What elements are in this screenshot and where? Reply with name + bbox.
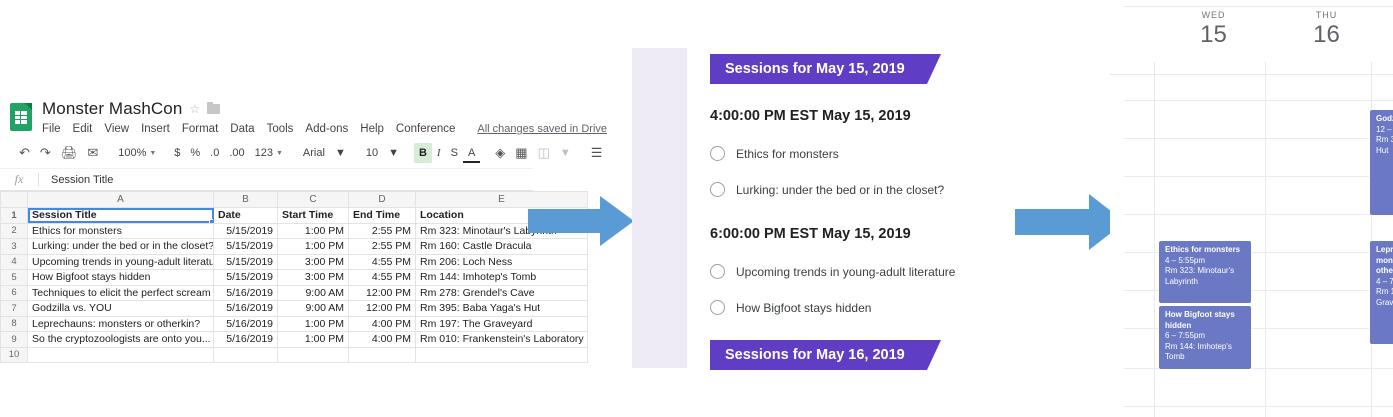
percent-format-button[interactable]: % [185,143,205,163]
row-number[interactable]: 4 [1,254,28,270]
cell-session-title[interactable]: Upcoming trends in young-adult literatur… [28,254,214,270]
google-form-panel: Sessions for May 15, 2019 4:00:00 PM EST… [632,48,956,368]
row-number[interactable]: 9 [1,332,28,348]
row-number[interactable]: 10 [1,347,28,363]
radio-icon[interactable] [710,264,725,279]
event-time: 6 – 7:55pm [1165,331,1246,342]
cell-location[interactable]: Rm 197: The Graveyard [416,316,588,332]
table-row[interactable]: 10 [1,347,588,363]
day-of-week-label: THU [1270,10,1383,20]
flow-arrow-1 [528,196,634,246]
cell-d1[interactable]: End Time [349,208,416,224]
fx-icon: fx [0,172,38,187]
calendar-hour-line [1124,100,1393,101]
cell-end-time[interactable]: 4:55 PM [349,254,416,270]
day-header-wed[interactable]: WED 15 [1157,10,1270,50]
event-location: Rm 144: Imhotep's Tomb [1165,342,1246,363]
arrow-right-icon [1015,194,1125,250]
italic-button[interactable]: I [432,143,446,163]
radio-icon[interactable] [710,146,725,161]
cell-empty[interactable] [349,347,416,363]
menu-item-file[interactable]: File [42,123,61,135]
option-label: Upcoming trends in young-adult literatur… [736,265,955,279]
cell-empty[interactable] [28,347,214,363]
cell-end-time[interactable]: 2:55 PM [349,239,416,255]
calendar-hour-line [1124,138,1393,139]
form-side-strip [632,48,687,368]
radio-option-upcoming-trends[interactable]: Upcoming trends in young-adult literatur… [710,264,956,279]
sheets-title-bar: Monster MashCon ☆ File Edit View Insert … [0,95,533,137]
option-label: Ethics for monsters [736,147,839,161]
cell-start-time[interactable]: 1:00 PM [278,239,349,255]
day-number: 15 [1157,20,1270,50]
cell-b1[interactable]: Date [214,208,278,224]
cell-session-title[interactable]: Godzilla vs. YOU [28,301,214,317]
section-banner-may-16: Sessions for May 16, 2019 [710,340,927,370]
cell-end-time[interactable]: 4:55 PM [349,270,416,286]
table-row[interactable]: 3 Lurking: under the bed or in the close… [1,239,588,255]
flow-arrow-2 [1015,194,1125,250]
table-row[interactable]: 7 Godzilla vs. YOU 5/16/2019 9:00 AM 12:… [1,301,588,317]
font-size-selector[interactable]: 10 [361,143,383,163]
strikethrough-button[interactable]: S [446,143,463,163]
calendar-event-godzilla[interactable]: Godzilla vs. YOU 12 – 3pm Rm 395: Baba Y… [1369,109,1393,216]
menu-item-data[interactable]: Data [230,123,254,135]
option-label: How Bigfoot stays hidden [736,301,871,315]
cell-date[interactable]: 5/15/2019 [214,239,278,255]
row-number[interactable]: 3 [1,239,28,255]
row-number[interactable]: 1 [1,208,28,224]
row-number[interactable]: 2 [1,223,28,239]
cell-empty[interactable] [278,347,349,363]
google-calendar-panel: WED 15 THU 16 Godzilla vs. YOU 12 – 3pm … [1110,0,1393,417]
cell-empty[interactable] [416,347,588,363]
document-title[interactable]: Monster MashCon [42,99,182,119]
cell-location[interactable]: Rm 278: Grendel's Cave [416,285,588,301]
form-group-4pm: 4:00:00 PM EST May 15, 2019 Ethics for m… [687,108,956,197]
cell-session-title[interactable]: Techniques to elicit the perfect scream [28,285,214,301]
menu-item-add-ons[interactable]: Add-ons [305,123,348,135]
paint-format-icon[interactable]: ✉ [82,143,103,163]
cell-session-title[interactable]: So the cryptozoologists are onto you... [28,332,214,348]
form-card: Sessions for May 15, 2019 4:00:00 PM EST… [687,48,956,368]
cell-end-time[interactable]: 4:00 PM [349,316,416,332]
folder-icon[interactable] [207,104,220,114]
cell-session-title[interactable]: How Bigfoot stays hidden [28,270,214,286]
google-sheets-panel: Monster MashCon ☆ File Edit View Insert … [0,95,533,320]
column-header-b[interactable]: B [214,192,278,208]
section-banner-may-15: Sessions for May 15, 2019 [710,54,927,84]
select-all-corner[interactable] [1,192,28,208]
table-row[interactable]: 8 Leprechauns: monsters or otherkin? 5/1… [1,316,588,332]
zoom-selector[interactable]: 100%▼ [113,143,159,163]
spreadsheet-grid[interactable]: A B C D E 1 Session Title Date Start Tim… [0,191,588,363]
calendar-day-headers: WED 15 THU 16 [1110,10,1393,50]
currency-format-button[interactable]: $ [169,143,185,163]
print-icon[interactable]: 🖨 [56,143,83,163]
calendar-event-leprechauns[interactable]: Leprechauns: monsters or otherkin? 4 – 7… [1369,240,1393,345]
calendar-column-divider [1265,62,1266,417]
increase-decimal-button[interactable]: .00 [224,143,249,163]
cell-location[interactable]: Rm 206: Loch Ness [416,254,588,270]
cell-start-time[interactable]: 3:00 PM [278,254,349,270]
group-heading: 4:00:00 PM EST May 15, 2019 [710,108,956,124]
menu-item-format[interactable]: Format [182,123,218,135]
column-header-a[interactable]: A [28,192,214,208]
text-color-button[interactable]: A [463,147,480,163]
radio-option-bigfoot[interactable]: How Bigfoot stays hidden [710,300,956,315]
menu-item-conference[interactable]: Conference [396,123,455,135]
document-title-row: Monster MashCon ☆ [42,99,607,119]
workflow-diagram: Monster MashCon ☆ File Edit View Insert … [0,0,1393,417]
day-of-week-label: WED [1157,10,1270,20]
cell-date[interactable]: 5/15/2019 [214,254,278,270]
cell-empty[interactable] [214,347,278,363]
font-chevron-down-icon[interactable]: ▼ [330,143,351,163]
form-group-6pm: 6:00:00 PM EST May 15, 2019 Upcoming tre… [687,226,956,315]
save-status[interactable]: All changes saved in Drive [477,123,607,135]
formula-bar: fx Session Title [0,168,533,191]
menu-item-edit[interactable]: Edit [73,123,93,135]
fill-color-icon[interactable]: ◈ [490,143,510,163]
cell-start-time[interactable]: 9:00 AM [278,301,349,317]
cell-start-time[interactable]: 1:00 PM [278,316,349,332]
radio-icon[interactable] [710,300,725,315]
section-banner-may-16-wrap: Sessions for May 16, 2019 [687,340,956,370]
calendar-hour-line [1124,406,1393,407]
cell-location[interactable]: Rm 010: Frankenstein's Laboratory [416,332,588,348]
event-title: How Bigfoot stays hidden [1165,310,1246,331]
group-heading: 6:00:00 PM EST May 15, 2019 [710,226,956,242]
column-header-row: A B C D E [1,192,588,208]
cell-end-time[interactable]: 2:55 PM [349,223,416,239]
cell-date[interactable]: 5/15/2019 [214,270,278,286]
event-location: Rm 323: Minotaur's Labyrinth [1165,266,1246,287]
event-location: Rm 395: Baba Yaga's Hut [1376,135,1393,156]
cell-start-time[interactable]: 1:00 PM [278,332,349,348]
table-row[interactable]: 5 How Bigfoot stays hidden 5/15/2019 3:0… [1,270,588,286]
cell-session-title[interactable]: Ethics for monsters [28,223,214,239]
calendar-top-divider [1124,6,1393,7]
arrow-right-icon [528,196,634,246]
font-selector[interactable]: Arial [298,143,330,163]
formula-bar-input[interactable]: Session Title [39,174,113,186]
redo-icon[interactable]: ↷ [35,143,56,163]
sheets-toolbar: ↶ ↷ 🖨 ✉ 100%▼ $ % .0 .00 123▼ Arial ▼ 10… [0,142,533,164]
table-row[interactable]: 6 Techniques to elicit the perfect screa… [1,285,588,301]
event-title: Ethics for monsters [1165,245,1246,256]
cell-start-time[interactable]: 3:00 PM [278,270,349,286]
event-title: Leprechauns: monsters or otherkin? [1376,245,1393,277]
borders-icon[interactable]: ▦ [510,143,532,163]
merge-cells-icon[interactable]: ◫ [533,143,555,163]
section-banner-may-15-wrap: Sessions for May 15, 2019 [687,54,956,84]
cell-end-time[interactable]: 12:00 PM [349,285,416,301]
menu-item-help[interactable]: Help [360,123,384,135]
sheets-menu-bar: File Edit View Insert Format Data Tools … [42,123,607,135]
event-time: 4 – 7pm [1376,277,1393,288]
google-sheets-icon [10,103,32,131]
day-number: 16 [1270,20,1383,50]
spreadsheet-body: 1 Session Title Date Start Time End Time… [1,208,588,363]
bold-button[interactable]: B [414,143,432,163]
calendar-gutter [1110,10,1157,50]
font-size-chevron-down-icon[interactable]: ▼ [383,143,404,163]
event-location: Rm 197: The Graveyard [1376,287,1393,308]
cell-date[interactable]: 5/16/2019 [214,332,278,348]
calendar-hour-line [1124,176,1393,177]
cell-end-time[interactable]: 4:00 PM [349,332,416,348]
cell-location[interactable]: Rm 395: Baba Yaga's Hut [416,301,588,317]
event-time: 4 – 5:55pm [1165,256,1246,267]
merge-chevron-down-icon[interactable]: ▼ [555,143,576,163]
cell-start-time[interactable]: 1:00 PM [278,223,349,239]
menu-item-tools[interactable]: Tools [267,123,294,135]
radio-option-lurking[interactable]: Lurking: under the bed or in the closet? [710,182,956,197]
table-row[interactable]: 4 Upcoming trends in young-adult literat… [1,254,588,270]
column-header-d[interactable]: D [349,192,416,208]
calendar-event-ethics[interactable]: Ethics for monsters 4 – 5:55pm Rm 323: M… [1158,240,1252,304]
more-formats-button[interactable]: 123▼ [250,143,288,163]
event-title: Godzilla vs. YOU [1376,114,1393,125]
row-number[interactable]: 8 [1,316,28,332]
row-number[interactable]: 5 [1,270,28,286]
row-number[interactable]: 7 [1,301,28,317]
undo-icon[interactable]: ↶ [14,143,35,163]
cell-date[interactable]: 5/16/2019 [214,316,278,332]
decrease-decimal-button[interactable]: .0 [205,143,224,163]
table-row[interactable]: 2 Ethics for monsters 5/15/2019 1:00 PM … [1,223,588,239]
event-time: 12 – 3pm [1376,125,1393,136]
radio-option-ethics[interactable]: Ethics for monsters [710,146,956,161]
cell-a1[interactable]: Session Title [28,208,214,224]
row-number[interactable]: 6 [1,285,28,301]
column-header-c[interactable]: C [278,192,349,208]
cell-c1[interactable]: Start Time [278,208,349,224]
cell-date[interactable]: 5/16/2019 [214,301,278,317]
cell-date[interactable]: 5/16/2019 [214,285,278,301]
cell-session-title[interactable]: Leprechauns: monsters or otherkin? [28,316,214,332]
calendar-hour-line [1110,74,1393,75]
calendar-hour-line [1124,214,1393,215]
cell-end-time[interactable]: 12:00 PM [349,301,416,317]
star-icon[interactable]: ☆ [189,103,200,115]
menu-item-view[interactable]: View [104,123,129,135]
cell-date[interactable]: 5/15/2019 [214,223,278,239]
radio-icon[interactable] [710,182,725,197]
option-label: Lurking: under the bed or in the closet? [736,183,944,197]
table-row[interactable]: 1 Session Title Date Start Time End Time… [1,208,588,224]
align-icon[interactable]: ☰ [586,143,608,163]
calendar-column-divider [1154,62,1155,417]
menu-item-insert[interactable]: Insert [141,123,170,135]
cell-session-title[interactable]: Lurking: under the bed or in the closet? [28,239,214,255]
cell-start-time[interactable]: 9:00 AM [278,285,349,301]
calendar-event-bigfoot[interactable]: How Bigfoot stays hidden 6 – 7:55pm Rm 1… [1158,305,1252,370]
table-row[interactable]: 9 So the cryptozoologists are onto you..… [1,332,588,348]
cell-location[interactable]: Rm 144: Imhotep's Tomb [416,270,588,286]
day-header-thu[interactable]: THU 16 [1270,10,1383,50]
